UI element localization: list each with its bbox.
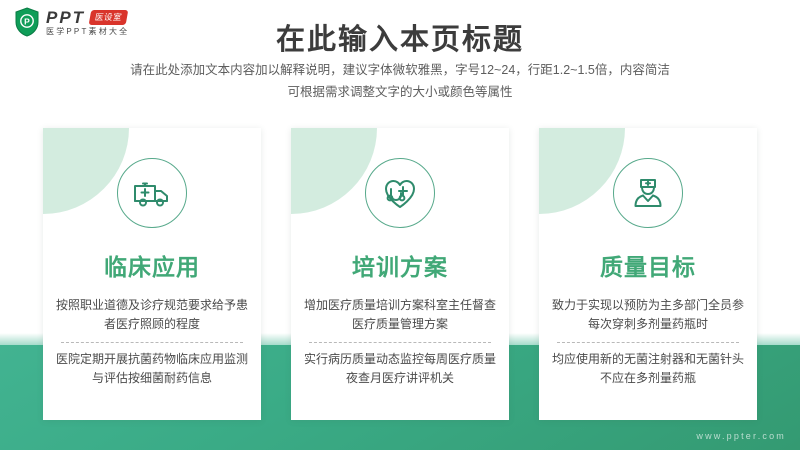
corner-decoration: [43, 128, 129, 214]
card-paragraph-2: 均应使用新的无菌注射器和无菌针头不应在多剂量药瓶: [551, 350, 745, 389]
corner-decoration: [291, 128, 377, 214]
card-divider: [557, 342, 739, 343]
card-title: 质量目标: [539, 248, 757, 282]
card-row: 临床应用 按照职业道德及诊疗规范要求给予患者医疗照顾的程度 医院定期开展抗菌药物…: [43, 128, 757, 420]
footer-watermark-url: www.ppter.com: [696, 431, 786, 441]
card-title: 临床应用: [43, 248, 261, 282]
card-divider: [309, 342, 491, 343]
card-body: 致力于实现以预防为主多部门全员参每次穿刺多剂量药瓶时 均应使用新的无菌注射器和无…: [551, 296, 745, 389]
slide-canvas: P PPT 医设室 医学PPT素材大全 在此输入本页标题 请在此处添加文本内容加…: [0, 0, 800, 450]
corner-decoration: [539, 128, 625, 214]
card-clinical-application[interactable]: 临床应用 按照职业道德及诊疗规范要求给予患者医疗照顾的程度 医院定期开展抗菌药物…: [43, 128, 261, 420]
heart-stethoscope-icon: [365, 158, 435, 228]
card-title: 培训方案: [291, 248, 509, 282]
card-training-plan[interactable]: 培训方案 增加医疗质量培训方案科室主任督查医疗质量管理方案 实行病历质量动态监控…: [291, 128, 509, 420]
ambulance-icon: [117, 158, 187, 228]
card-body: 增加医疗质量培训方案科室主任督查医疗质量管理方案 实行病历质量动态监控每周医疗质…: [303, 296, 497, 389]
card-paragraph-2: 医院定期开展抗菌药物临床应用监测与评估按细菌耐药信息: [55, 350, 249, 389]
subtitle-line-1: 请在此处添加文本内容加以解释说明，建议字体微软雅黑，字号12~24，行距1.2~…: [0, 60, 800, 82]
card-quality-goal[interactable]: 质量目标 致力于实现以预防为主多部门全员参每次穿刺多剂量药瓶时 均应使用新的无菌…: [539, 128, 757, 420]
card-divider: [61, 342, 243, 343]
card-body: 按照职业道德及诊疗规范要求给予患者医疗照顾的程度 医院定期开展抗菌药物临床应用监…: [55, 296, 249, 389]
card-paragraph-1: 致力于实现以预防为主多部门全员参每次穿刺多剂量药瓶时: [551, 296, 745, 335]
subtitle-line-2: 可根据需求调整文字的大小或颜色等属性: [0, 82, 800, 104]
doctor-icon: [613, 158, 683, 228]
card-paragraph-2: 实行病历质量动态监控每周医疗质量夜查月医疗讲评机关: [303, 350, 497, 389]
page-subtitle: 请在此处添加文本内容加以解释说明，建议字体微软雅黑，字号12~24，行距1.2~…: [0, 60, 800, 104]
card-paragraph-1: 按照职业道德及诊疗规范要求给予患者医疗照顾的程度: [55, 296, 249, 335]
card-paragraph-1: 增加医疗质量培训方案科室主任督查医疗质量管理方案: [303, 296, 497, 335]
page-title: 在此输入本页标题: [0, 16, 800, 58]
